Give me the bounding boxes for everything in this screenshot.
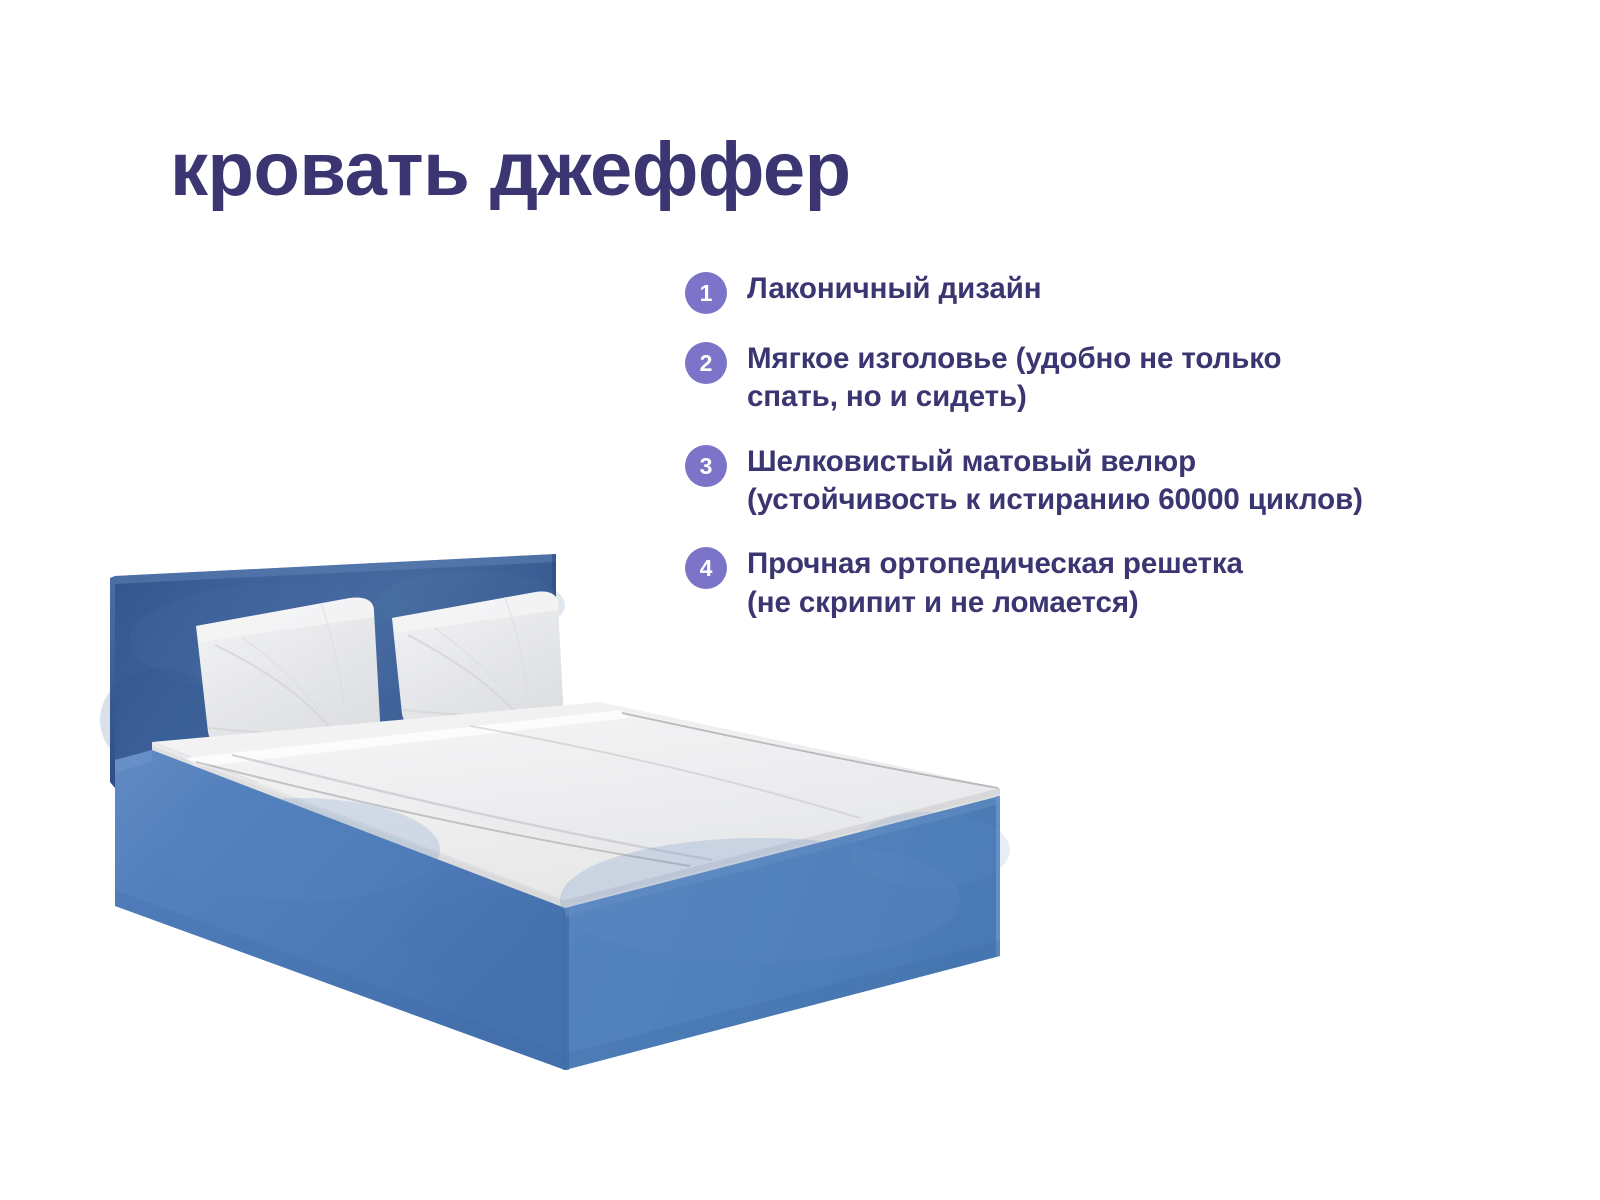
product-image-bed bbox=[0, 470, 1060, 1150]
infographic-page: кровать джеффер 1 Лаконичный дизайн 2 Мя… bbox=[0, 0, 1600, 1200]
feature-item-1: 1 Лаконичный дизайн bbox=[685, 270, 1495, 314]
feature-number-badge: 2 bbox=[685, 342, 727, 384]
feature-text: Мягкое изголовье (удобно не только спать… bbox=[747, 340, 1281, 417]
feature-item-2: 2 Мягкое изголовье (удобно не только спа… bbox=[685, 340, 1495, 417]
feature-text: Лаконичный дизайн bbox=[747, 270, 1041, 308]
feature-number-badge: 1 bbox=[685, 272, 727, 314]
page-title: кровать джеффер bbox=[170, 132, 851, 208]
bed-illustration bbox=[0, 470, 1060, 1150]
